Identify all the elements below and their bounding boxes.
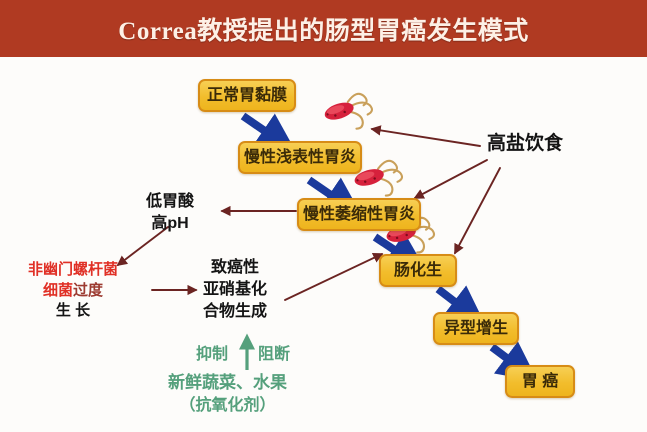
inhibit-label: 抑制 (196, 346, 228, 363)
protective-detail-label: （抗氧化剂） (168, 397, 287, 416)
flow-box-label: 慢性萎缩性胃炎 (303, 207, 415, 223)
non-hp-line2-red: 细菌 (43, 282, 73, 299)
flow-box-chronic-atrophic[interactable]: 慢性萎缩性胃炎 (297, 198, 421, 231)
high-salt-arrows (372, 129, 500, 253)
arrow-carcinogen-to-metaplasia (285, 254, 382, 300)
annotation-block: 阻断 (258, 346, 290, 365)
high-salt-diet-label: 高盐饮食 (487, 133, 563, 154)
flow-box-label: 正常胃黏膜 (207, 88, 287, 104)
non-hp-line2: 细菌过度 (28, 282, 118, 300)
non-hp-line1: 非幽门螺杆菌 (28, 261, 118, 279)
flow-box-label: 肠化生 (394, 263, 442, 279)
low-acid-arrows (118, 211, 296, 265)
arrow-metaplasia-to-dysplasia (438, 289, 468, 312)
title-bar: Correa教授提出的肠型胃癌发生模式 (0, 0, 647, 57)
flow-box-gastric-cancer[interactable]: 胃 癌 (505, 365, 575, 398)
page-title: Correa教授提出的肠型胃癌发生模式 (118, 11, 528, 47)
flow-box-intestinal-metaplasia[interactable]: 肠化生 (379, 254, 457, 287)
annotation-carcinogen: 致癌性 亚硝基化 合物生成 (203, 259, 267, 322)
flow-box-dysplasia[interactable]: 异型增生 (433, 312, 519, 345)
arrow-salt-to-metaplasia (455, 168, 500, 253)
low-acid-line2: 高pH (146, 215, 194, 234)
carcinogen-line1: 致癌性 (203, 259, 267, 278)
block-label: 阻断 (258, 346, 290, 363)
low-acid-line1: 低胃酸 (146, 193, 194, 212)
arrow-salt-to-superficial (372, 129, 480, 146)
annotation-non-hp-bacteria: 非幽门螺杆菌 细菌过度 生 长 (28, 261, 118, 320)
flow-box-normal-mucosa[interactable]: 正常胃黏膜 (198, 79, 296, 112)
hpylori-icon-1 (322, 91, 377, 137)
flow-box-chronic-superficial[interactable]: 慢性浅表性胃炎 (238, 141, 362, 174)
flow-box-label: 慢性浅表性胃炎 (244, 150, 356, 166)
arrow-normal-to-superficial (243, 116, 278, 140)
flow-box-label: 胃 癌 (522, 374, 558, 390)
non-hp-line2-dark: 过度 (73, 282, 103, 299)
arrow-salt-to-atrophic (415, 160, 487, 198)
annotation-high-salt-diet: 高盐饮食 (487, 133, 563, 155)
annotation-low-acid: 低胃酸 高pH (146, 193, 194, 234)
protective-source-label: 新鲜蔬菜、水果 (168, 373, 287, 393)
annotation-protective-source: 新鲜蔬菜、水果 （抗氧化剂） (168, 373, 287, 416)
non-hp-line3: 生 长 (28, 302, 118, 320)
carcinogen-line2: 亚硝基化 (203, 281, 267, 300)
carcinogen-line3: 合物生成 (203, 303, 267, 322)
diagram-canvas: Correa教授提出的肠型胃癌发生模式 (0, 0, 647, 432)
annotation-inhibit: 抑制 (196, 346, 228, 365)
flow-box-label: 异型增生 (444, 321, 508, 337)
